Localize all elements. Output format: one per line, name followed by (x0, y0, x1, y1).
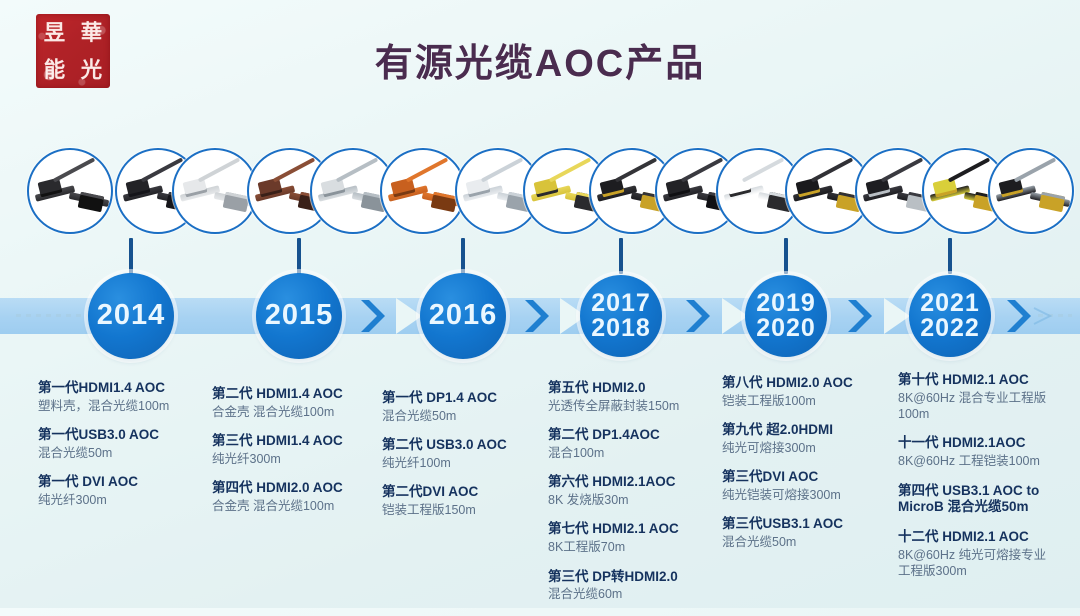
product-entry: 第一代 DP1.4 AOC混合光缆50m (382, 390, 552, 424)
timeline-tick-2016 (461, 238, 465, 274)
product-entry-spec: 混合光缆50m (382, 408, 552, 424)
year-circle-2016[interactable]: 2016 (420, 273, 506, 359)
product-entry-spec: 8K工程版70m (548, 539, 726, 555)
product-photo-art (382, 150, 464, 232)
product-entry-heading: 第二代DVI AOC (382, 484, 552, 501)
product-entry: 第一代 DVI AOC纯光纤300m (38, 474, 208, 508)
product-entry-heading: 第五代 HDMI2.0 (548, 380, 726, 397)
product-entry-heading: 第八代 HDMI2.0 AOC (722, 375, 900, 392)
year-circle-2014[interactable]: 2014 (88, 273, 174, 359)
year-circle-2015[interactable]: 2015 (256, 273, 342, 359)
year-label: 2022 (920, 316, 980, 342)
product-entry: 第二代 DP1.4AOC混合100m (548, 427, 726, 461)
product-entry-spec: 塑料壳，混合光缆100m (38, 398, 208, 414)
timeline-chevron-4 (846, 296, 880, 336)
year-circle-2019-2020[interactable]: 20192020 (745, 275, 827, 357)
product-entry: 第二代 USB3.0 AOC纯光纤100m (382, 437, 552, 471)
product-entry-spec: 8K 发烧版30m (548, 492, 726, 508)
product-entry-heading: 第一代HDMI1.4 AOC (38, 380, 208, 397)
product-entry-spec: 混合光缆50m (722, 534, 900, 550)
product-entry: 第九代 超2.0HDMI纯光可熔接300m (722, 422, 900, 456)
product-photo-art (29, 150, 111, 232)
product-entry-heading: 第三代DVI AOC (722, 469, 900, 486)
product-entry-heading: 第一代 DP1.4 AOC (382, 390, 552, 407)
product-entry-heading: 十一代 HDMI2.1AOC (898, 435, 1078, 452)
product-entry-heading: 第七代 HDMI2.1 AOC (548, 521, 726, 538)
product-entry: 第四代 USB3.1 AOC to MicroB 混合光缆50m (898, 483, 1078, 517)
year-label: 2015 (265, 301, 334, 331)
product-entry: 第三代 DP转HDMI2.0混合光缆60m (548, 569, 726, 603)
product-entry-heading: 第四代 HDMI2.0 AOC (212, 480, 384, 497)
product-photo-dp-to-hdmi-cable (988, 148, 1074, 234)
timeline-tick-2021-2022 (948, 238, 952, 274)
timeline-chevron-2 (523, 296, 557, 336)
timeline-tail-arrow (1032, 300, 1080, 332)
text-column-2021-2022: 第十代 HDMI2.1 AOC8K@60Hz 混合专业工程版 100m十一代 H… (898, 372, 1078, 593)
product-entry: 第十代 HDMI2.1 AOC8K@60Hz 混合专业工程版 100m (898, 372, 1078, 422)
product-entry-spec: 混合光缆50m (38, 445, 208, 461)
text-column-2014: 第一代HDMI1.4 AOC塑料壳，混合光缆100m第一代USB3.0 AOC混… (38, 380, 208, 521)
timeline-tick-2017-2018 (619, 238, 623, 274)
product-entry-spec: 8K@60Hz 工程铠装100m (898, 453, 1078, 469)
product-photo-usb-white-adapter-cable (172, 148, 258, 234)
slide-canvas: 昱 華 能 光 有源光缆AOC产品 2014201520162017201820… (0, 0, 1080, 608)
year-label: 2017 (591, 291, 651, 317)
timeline-tick-2019-2020 (784, 238, 788, 274)
timeline-chevron-3 (684, 296, 718, 336)
product-entry-heading: 第二代 DP1.4AOC (548, 427, 726, 444)
product-entry: 第一代USB3.0 AOC混合光缆50m (38, 427, 208, 461)
product-entry: 第三代 HDMI1.4 AOC纯光纤300m (212, 433, 384, 467)
product-entry-heading: 十二代 HDMI2.1 AOC (898, 529, 1078, 546)
year-label: 2020 (756, 316, 816, 342)
product-entry: 第三代DVI AOC纯光铠装可熔接300m (722, 469, 900, 503)
product-photo-hdmi-plastic-shell-cable (27, 148, 113, 234)
product-entry-spec: 纯光纤300m (38, 492, 208, 508)
timeline-tick-2015 (297, 238, 301, 274)
product-entry-heading: 第三代 DP转HDMI2.0 (548, 569, 726, 586)
product-entry-spec: 合金壳 混合光缆100m (212, 498, 384, 514)
page-title: 有源光缆AOC产品 (0, 32, 1080, 87)
product-entry: 第五代 HDMI2.0光透传全屏蔽封装150m (548, 380, 726, 414)
product-entry-heading: 第十代 HDMI2.1 AOC (898, 372, 1078, 389)
product-entry-spec: 8K@60Hz 混合专业工程版 100m (898, 390, 1078, 423)
text-column-2015: 第二代 HDMI1.4 AOC合金壳 混合光缆100m第三代 HDMI1.4 A… (212, 386, 384, 527)
text-column-2017-2018: 第五代 HDMI2.0光透传全屏蔽封装150m第二代 DP1.4AOC混合100… (548, 380, 726, 616)
product-entry-heading: 第一代 DVI AOC (38, 474, 208, 491)
year-circle-2017-2018[interactable]: 20172018 (580, 275, 662, 357)
product-entry-spec: 混合光缆60m (548, 586, 726, 602)
product-entry: 第七代 HDMI2.1 AOC8K工程版70m (548, 521, 726, 555)
product-entry-spec: 纯光铠装可熔接300m (722, 487, 900, 503)
product-entry-spec: 纯光可熔接300m (722, 440, 900, 456)
timeline-chevron-1 (359, 296, 393, 336)
product-photo-row (0, 148, 1080, 234)
product-entry: 十一代 HDMI2.1AOC8K@60Hz 工程铠装100m (898, 435, 1078, 469)
product-entry: 第八代 HDMI2.0 AOC铠装工程版100m (722, 375, 900, 409)
product-entry-heading: 第六代 HDMI2.1AOC (548, 474, 726, 491)
product-entry-spec: 8K@60Hz 纯光可熔接专业 工程版300m (898, 547, 1078, 580)
product-entry-heading: 第三代USB3.1 AOC (722, 516, 900, 533)
text-column-2019-2020: 第八代 HDMI2.0 AOC铠装工程版100m第九代 超2.0HDMI纯光可熔… (722, 375, 900, 564)
product-entry: 第四代 HDMI2.0 AOC合金壳 混合光缆100m (212, 480, 384, 514)
product-entry-heading: 第四代 USB3.1 AOC to MicroB 混合光缆50m (898, 483, 1078, 517)
product-entry: 第三代USB3.1 AOC混合光缆50m (722, 516, 900, 550)
year-circle-2021-2022[interactable]: 20212022 (909, 275, 991, 357)
text-column-2016: 第一代 DP1.4 AOC混合光缆50m第二代 USB3.0 AOC纯光纤100… (382, 390, 552, 531)
timeline-tick-2014 (129, 238, 133, 274)
product-entry-spec: 混合100m (548, 445, 726, 461)
product-entry: 第二代 HDMI1.4 AOC合金壳 混合光缆100m (212, 386, 384, 420)
product-entry-spec: 光透传全屏蔽封装150m (548, 398, 726, 414)
product-entry-heading: 第九代 超2.0HDMI (722, 422, 900, 439)
product-entry-spec: 铠装工程版150m (382, 502, 552, 518)
product-entry-heading: 第三代 HDMI1.4 AOC (212, 433, 384, 450)
product-photo-art (990, 150, 1072, 232)
year-label: 2014 (97, 301, 166, 331)
product-entry: 第二代DVI AOC铠装工程版150m (382, 484, 552, 518)
product-photo-art (174, 150, 256, 232)
product-photo-orange-aoc-hdmi-cable (380, 148, 466, 234)
product-entry-spec: 纯光纤300m (212, 451, 384, 467)
product-entry: 十二代 HDMI2.1 AOC8K@60Hz 纯光可熔接专业 工程版300m (898, 529, 1078, 579)
product-entry-spec: 纯光纤100m (382, 455, 552, 471)
year-label: 2021 (920, 291, 980, 317)
product-entry-heading: 第二代 HDMI1.4 AOC (212, 386, 384, 403)
product-entry: 第六代 HDMI2.1AOC8K 发烧版30m (548, 474, 726, 508)
product-entry-spec: 合金壳 混合光缆100m (212, 404, 384, 420)
product-entry-heading: 第二代 USB3.0 AOC (382, 437, 552, 454)
year-label: 2018 (591, 316, 651, 342)
product-entry-spec: 铠装工程版100m (722, 393, 900, 409)
product-entry: 第一代HDMI1.4 AOC塑料壳，混合光缆100m (38, 380, 208, 414)
year-label: 2019 (756, 291, 816, 317)
year-label: 2016 (429, 301, 498, 331)
product-entry-heading: 第一代USB3.0 AOC (38, 427, 208, 444)
